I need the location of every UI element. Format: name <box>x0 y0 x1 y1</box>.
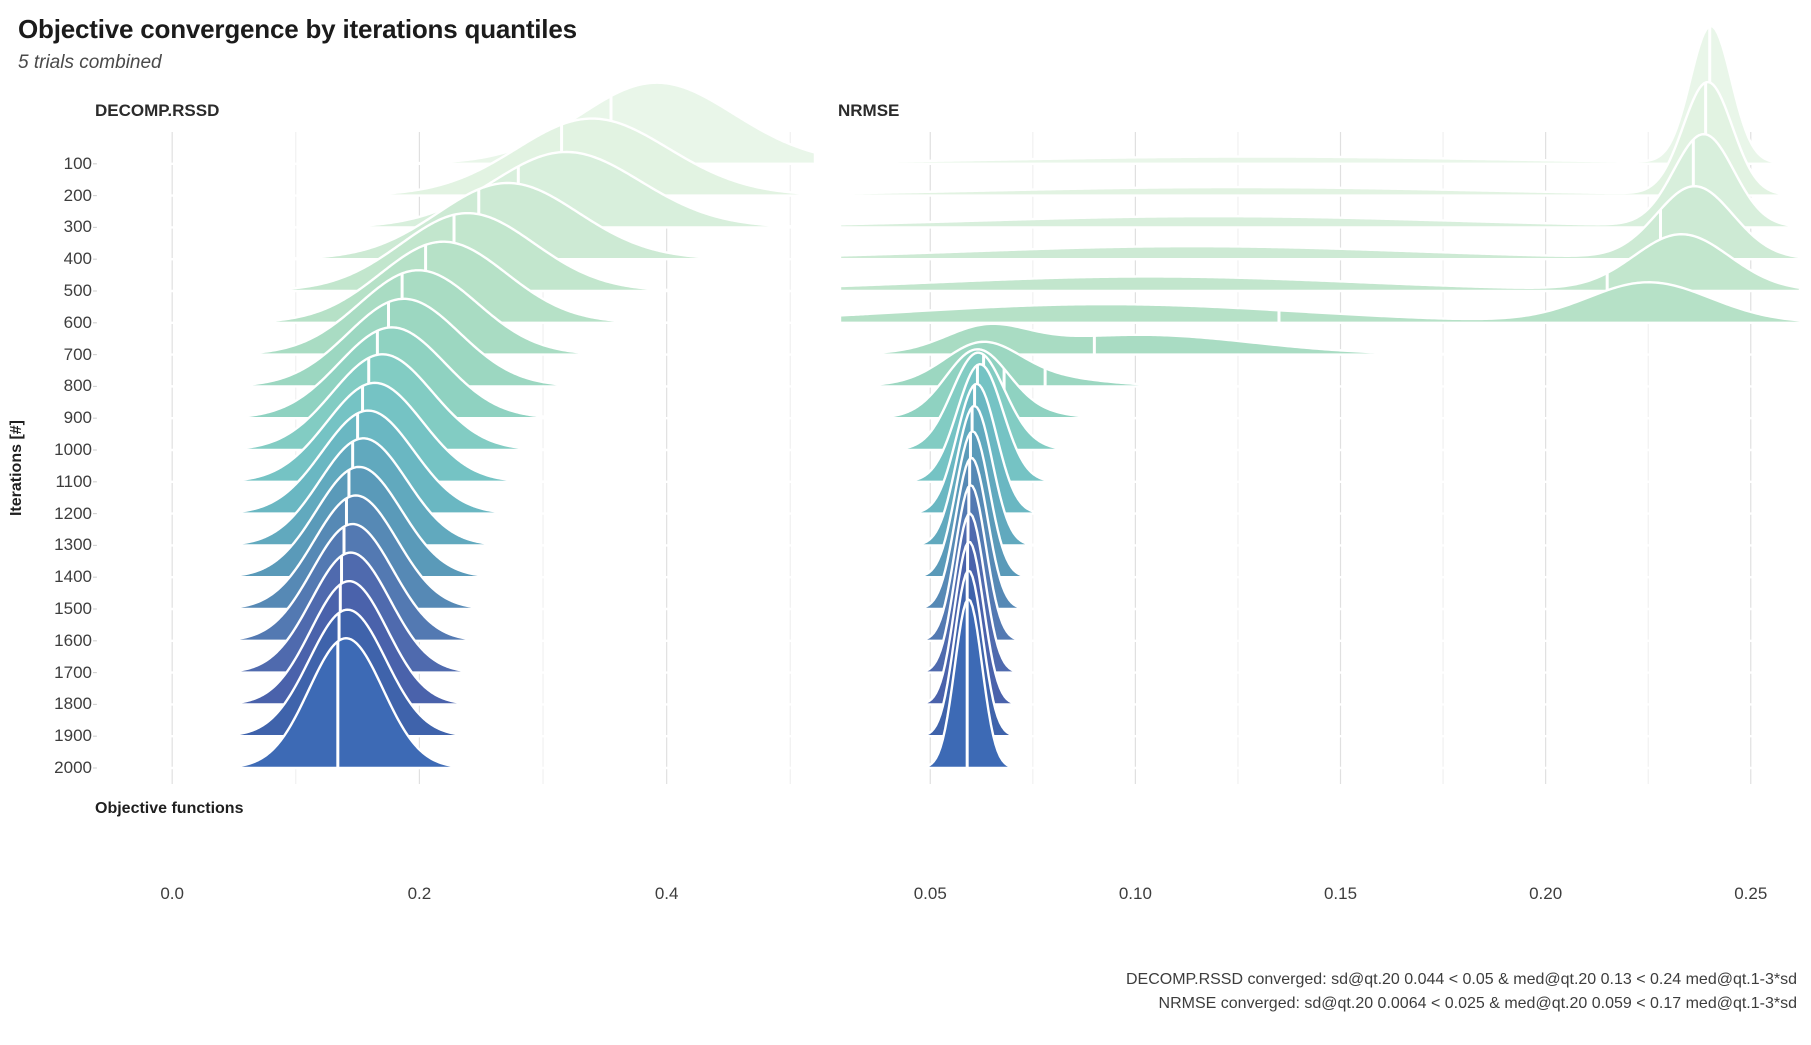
y-tick-label: 300 <box>2 217 92 237</box>
x-tick-label: 0.15 <box>1324 884 1357 904</box>
x-tick-label: 0.10 <box>1119 884 1152 904</box>
y-tick-label: 1000 <box>2 440 92 460</box>
y-tick-label: 1300 <box>2 535 92 555</box>
y-tick-label: 200 <box>2 186 92 206</box>
y-axis-tick-labels: 1002003004005006007008009001000110012001… <box>0 0 92 1045</box>
ridge-area <box>98 83 815 164</box>
ridge-area <box>98 581 815 704</box>
y-tick-label: 2000 <box>2 758 92 778</box>
y-tick-label: 600 <box>2 313 92 333</box>
y-tick-label: 1400 <box>2 567 92 587</box>
x-tick-label: 0.0 <box>160 884 184 904</box>
ridge-area <box>840 82 1800 196</box>
y-tick-label: 1100 <box>2 472 92 492</box>
y-tick-label: 1200 <box>2 504 92 524</box>
x-tick-label: 0.4 <box>655 884 679 904</box>
ridge-area <box>98 438 815 545</box>
y-tick-label: 1800 <box>2 694 92 714</box>
ridge-area <box>98 467 815 577</box>
caption-line-nrmse: NRMSE converged: sd@qt.20 0.0064 < 0.025… <box>1159 995 1797 1013</box>
y-tick-label: 900 <box>2 408 92 428</box>
caption-line-decomp-rssd: DECOMP.RSSD converged: sd@qt.20 0.044 < … <box>1126 971 1797 989</box>
y-tick-label: 800 <box>2 376 92 396</box>
y-tick-label: 500 <box>2 281 92 301</box>
y-tick-label: 400 <box>2 249 92 269</box>
x-tick-label: 0.05 <box>914 884 947 904</box>
y-tick-label: 1500 <box>2 599 92 619</box>
x-tick-label: 0.20 <box>1529 884 1562 904</box>
y-tick-label: 1600 <box>2 631 92 651</box>
y-tick-label: 1700 <box>2 663 92 683</box>
x-tick-label: 0.25 <box>1734 884 1767 904</box>
ridge-area <box>840 26 1800 164</box>
x-tick-label: 0.2 <box>408 884 432 904</box>
y-tick-label: 700 <box>2 345 92 365</box>
chart-page: Objective convergence by iterations quan… <box>0 0 1811 1045</box>
y-tick-label: 100 <box>2 154 92 174</box>
y-tick-label: 1900 <box>2 726 92 746</box>
